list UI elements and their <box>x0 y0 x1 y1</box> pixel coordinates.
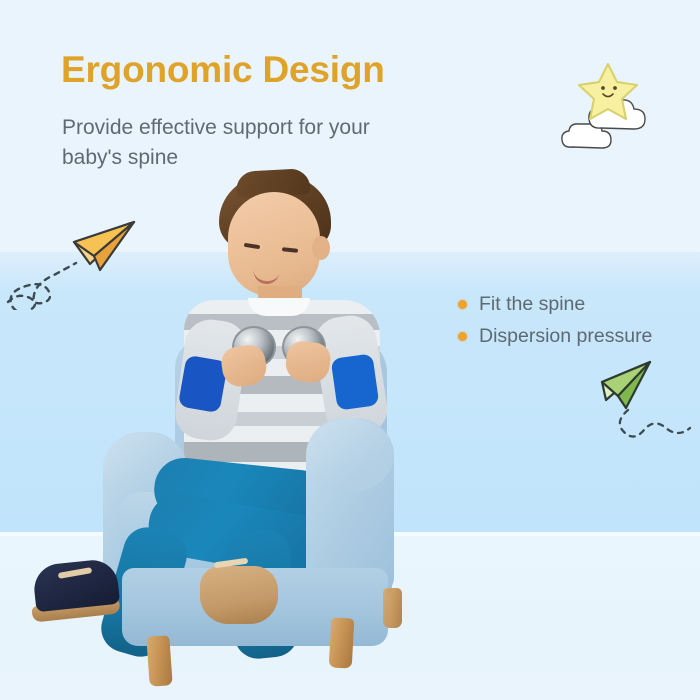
paper-plane-green-icon <box>588 352 700 465</box>
list-item: Fit the spine <box>458 288 652 320</box>
chair-armrest-right-cap <box>306 418 394 492</box>
page-title: Ergonomic Design <box>61 49 385 91</box>
list-item: Dispersion pressure <box>458 320 652 352</box>
child-collar <box>248 298 310 316</box>
child-ear <box>312 236 330 260</box>
sweater-blue-accent-right <box>331 353 380 410</box>
chair-leg-front-right <box>329 617 355 668</box>
feature-list: Fit the spine Dispersion pressure <box>458 288 652 352</box>
feature-label: Fit the spine <box>479 293 585 316</box>
star-cloud-icon <box>545 48 663 165</box>
chair-leg-front-left <box>146 635 172 686</box>
child-shoe-right <box>200 566 278 624</box>
chair-leg-back-right <box>383 588 402 628</box>
product-photo <box>0 170 480 680</box>
child-shoe-left <box>32 558 120 613</box>
product-feature-poster: Ergonomic Design Provide effective suppo… <box>0 0 700 700</box>
feature-label: Dispersion pressure <box>479 325 652 348</box>
page-subtitle: Provide effective support for your baby'… <box>62 113 422 173</box>
